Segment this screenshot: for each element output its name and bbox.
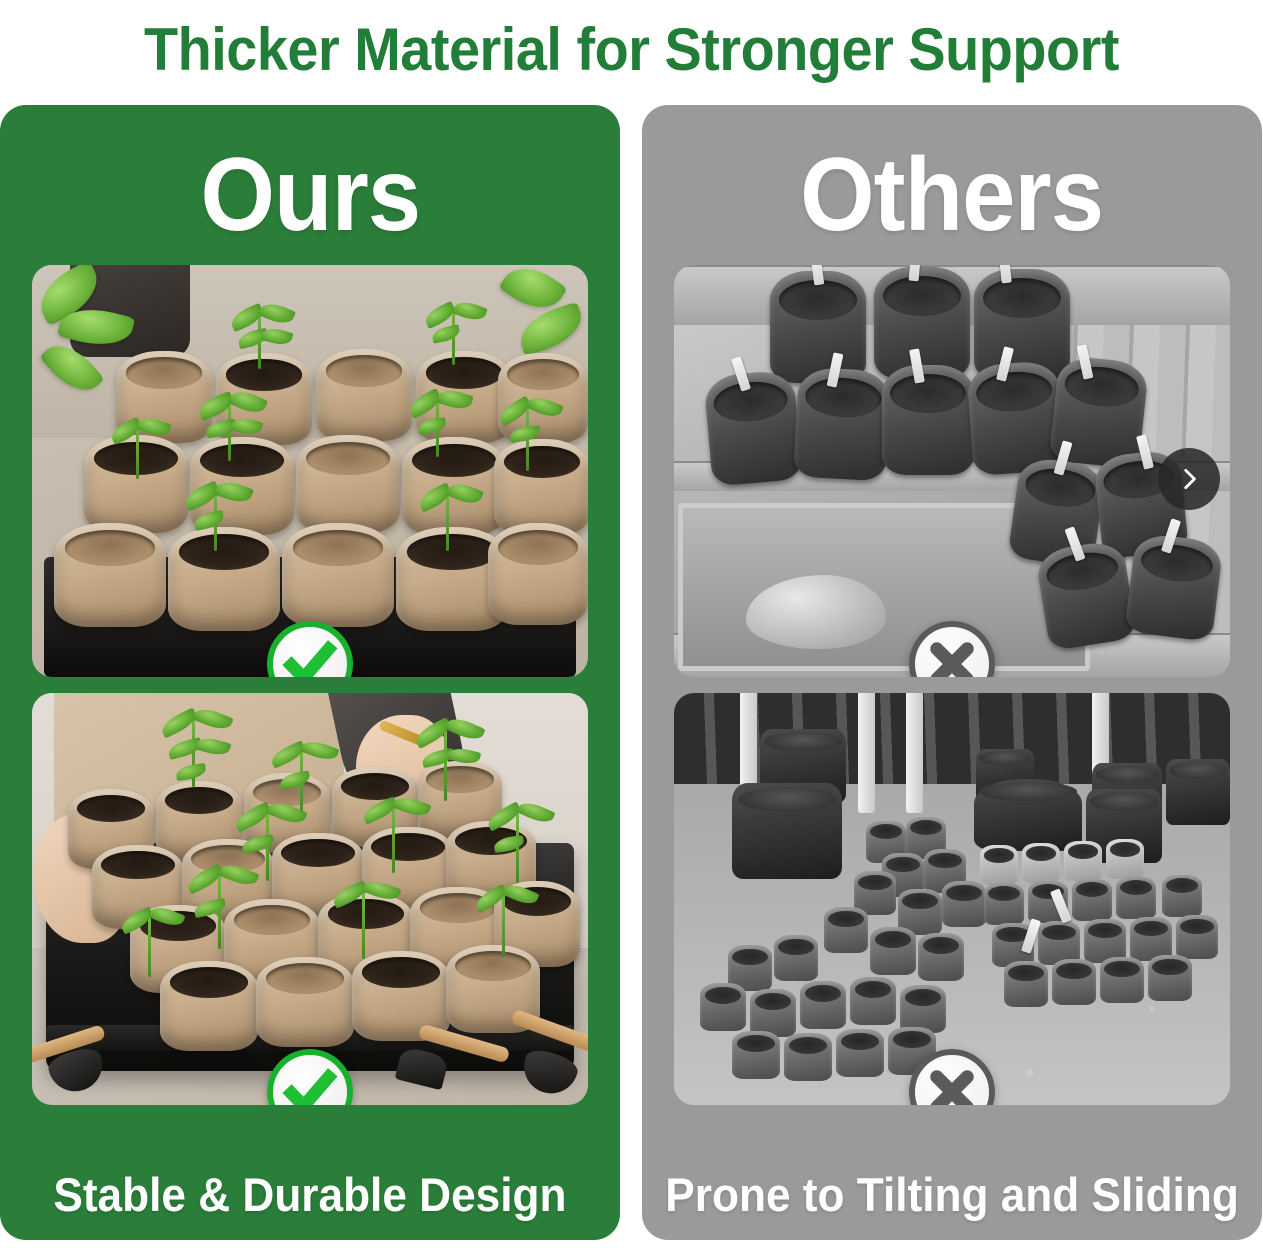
- large-bucket: [732, 783, 842, 879]
- panel-others: Others: [642, 105, 1262, 1240]
- small-pot: [1052, 959, 1096, 1005]
- others-caption: Prone to Tilting and Sliding: [665, 1148, 1239, 1240]
- peat-pot: [316, 349, 412, 441]
- peat-pot: [54, 523, 166, 627]
- small-pot: [1022, 843, 1060, 883]
- small-pot: [1106, 839, 1144, 879]
- small-pot: [1100, 957, 1144, 1003]
- cross-icon: [924, 1064, 980, 1105]
- peat-pot: [168, 527, 280, 631]
- small-pot: [784, 1033, 832, 1081]
- plastic-pot: [793, 367, 891, 482]
- comparison-grid: Ours: [0, 105, 1263, 1245]
- plastic-pot: [882, 365, 974, 475]
- peat-pot: [160, 961, 258, 1051]
- peat-pot: [494, 439, 588, 535]
- peat-pot: [256, 957, 354, 1047]
- pvc-pipe: [858, 693, 875, 813]
- others-photo-sliding-pots[interactable]: [674, 693, 1230, 1105]
- cross-icon: [924, 636, 980, 677]
- small-pot: [1148, 955, 1192, 1001]
- small-pot: [1116, 877, 1156, 919]
- small-pot: [980, 845, 1018, 885]
- ours-caption: Stable & Durable Design: [53, 1148, 566, 1240]
- check-icon: [282, 636, 338, 677]
- ours-photo-hands-holding-tray[interactable]: [32, 693, 588, 1105]
- small-pot: [1004, 961, 1048, 1007]
- small-pot: [800, 981, 846, 1029]
- panel-others-photo-stack: [642, 265, 1262, 1148]
- peat-pot: [296, 435, 400, 533]
- small-pot: [836, 1029, 884, 1077]
- small-pot: [1162, 875, 1202, 917]
- plastic-pot: [1124, 532, 1224, 642]
- large-bucket: [1166, 759, 1230, 825]
- small-pot: [1064, 841, 1102, 881]
- plastic-pot: [1035, 539, 1138, 652]
- panel-others-title: Others: [801, 143, 1104, 247]
- small-pot: [918, 933, 964, 981]
- chevron-right-icon: [1176, 466, 1202, 492]
- ours-photo-seedling-pots-closeup[interactable]: [32, 265, 588, 677]
- small-pot: [984, 883, 1024, 925]
- check-icon: [282, 1064, 338, 1105]
- plastic-pot: [703, 369, 802, 486]
- small-pot: [942, 881, 986, 927]
- peat-pot: [282, 523, 394, 627]
- plastic-pot: [966, 360, 1065, 476]
- small-pot: [824, 907, 868, 953]
- panel-ours-photo-stack: [0, 265, 620, 1148]
- plastic-pot: [770, 271, 866, 383]
- plastic-pot: [874, 267, 970, 379]
- peat-pot: [488, 523, 588, 625]
- panel-ours-title: Ours: [200, 143, 420, 247]
- small-pot: [732, 1031, 780, 1079]
- pvc-pipe: [906, 693, 923, 813]
- carousel-next-button[interactable]: [1158, 448, 1220, 510]
- panel-ours: Ours: [0, 105, 620, 1240]
- small-pot: [1176, 915, 1218, 959]
- page-title: Thicker Material for Stronger Support: [44, 0, 1219, 100]
- large-bowl: [974, 779, 1082, 851]
- small-pot: [870, 927, 916, 975]
- small-pot: [700, 983, 746, 1031]
- small-pot: [750, 989, 796, 1037]
- small-pot: [900, 985, 946, 1033]
- small-pot: [850, 977, 896, 1025]
- small-pot: [1072, 879, 1112, 921]
- small-pot: [774, 935, 818, 981]
- others-photo-tilting-pots[interactable]: [674, 265, 1230, 677]
